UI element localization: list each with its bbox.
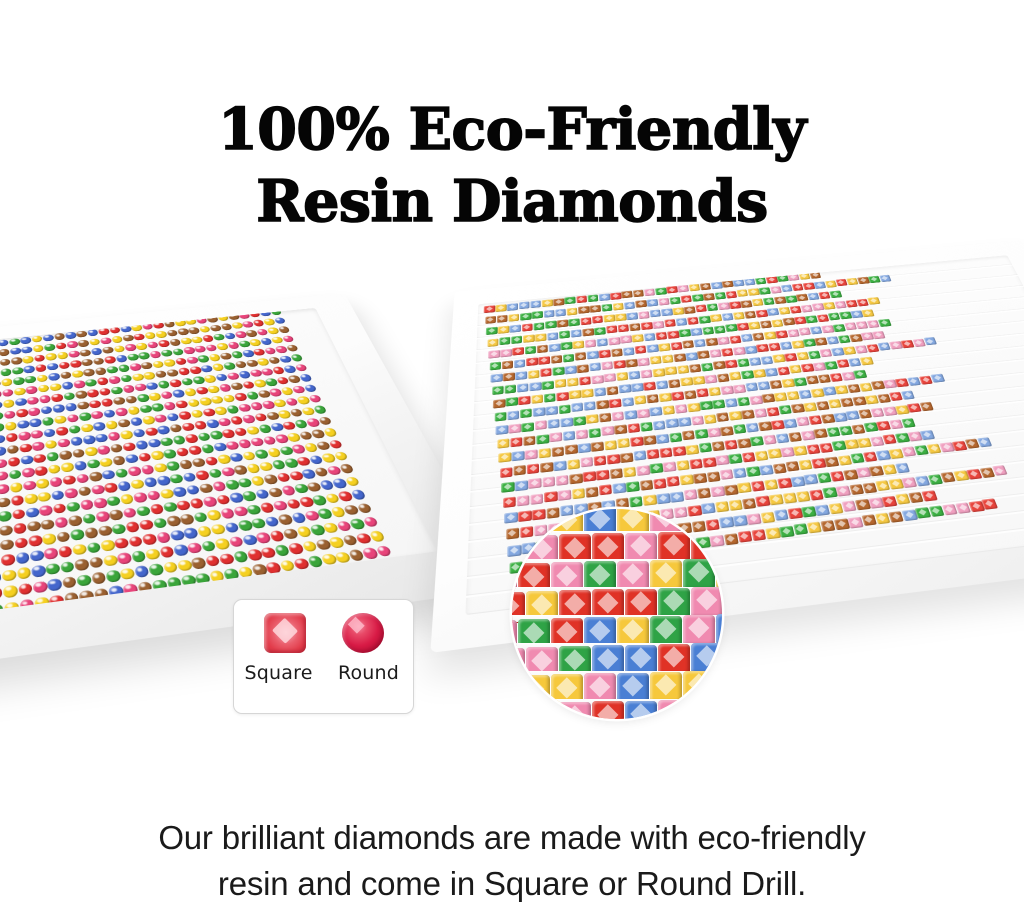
round-drill	[147, 341, 159, 349]
square-drill	[498, 326, 509, 334]
square-drill	[621, 291, 632, 299]
square-drill	[542, 380, 554, 389]
square-drill	[676, 460, 690, 471]
square-drill	[665, 366, 678, 375]
round-drill	[76, 330, 88, 337]
round-drill	[153, 517, 168, 528]
round-drill	[111, 336, 123, 344]
round-drill	[43, 428, 56, 437]
round-drill	[117, 419, 130, 428]
square-drill	[587, 294, 598, 302]
round-drill	[33, 345, 44, 353]
square-drill	[544, 393, 556, 402]
round-drill	[49, 383, 61, 392]
magnified-square-drill	[683, 671, 715, 702]
round-drill	[28, 535, 42, 547]
magnified-square-drill	[658, 700, 690, 719]
round-drill	[195, 572, 211, 585]
square-drill	[510, 437, 522, 447]
square-drill	[533, 322, 544, 330]
square-drill	[535, 420, 547, 430]
square-drill	[751, 529, 766, 541]
round-drill	[43, 334, 54, 342]
square-drill	[488, 350, 500, 359]
round-drill	[66, 501, 80, 512]
legend-gem-row	[234, 613, 413, 653]
square-drill	[823, 302, 836, 310]
square-drill	[601, 426, 614, 436]
square-drill	[556, 391, 568, 400]
round-drill	[188, 327, 200, 334]
square-drill	[878, 319, 891, 327]
round-drill	[156, 531, 171, 543]
square-drill	[593, 455, 606, 466]
round-drill	[56, 531, 70, 543]
square-drill	[741, 370, 754, 379]
magnified-square-drill	[658, 532, 690, 563]
square-drill	[700, 401, 713, 411]
square-drill	[626, 481, 640, 492]
square-drill	[565, 297, 576, 305]
square-drill	[778, 307, 791, 315]
square-drill	[594, 387, 606, 396]
magnified-square-drill	[691, 699, 722, 719]
round-drill	[13, 377, 25, 385]
square-drill	[680, 295, 692, 303]
square-drill	[694, 429, 708, 439]
round-drill	[129, 363, 141, 371]
round-drill	[9, 338, 20, 346]
square-drill	[615, 498, 629, 509]
round-drill	[0, 412, 3, 421]
round-drill	[1, 554, 15, 566]
square-drill	[662, 405, 675, 415]
square-drill	[742, 498, 757, 509]
square-drill	[793, 445, 807, 455]
round-drill	[48, 464, 61, 474]
square-drill	[646, 344, 658, 353]
square-drill	[757, 381, 770, 390]
square-drill	[623, 466, 637, 477]
magnified-square-drill	[658, 588, 690, 619]
round-drill	[172, 348, 184, 356]
round-drill	[68, 350, 80, 358]
round-drill	[318, 416, 333, 425]
square-drill	[682, 430, 696, 440]
square-drill-icon	[264, 613, 306, 653]
round-drill	[14, 387, 26, 396]
square-drill	[721, 313, 733, 321]
round-drill	[255, 532, 271, 544]
round-drill	[158, 340, 170, 348]
square-drill	[737, 438, 751, 448]
square-drill	[697, 488, 711, 499]
square-drill	[720, 426, 734, 436]
round-drill	[11, 495, 24, 506]
round-drill	[89, 338, 101, 346]
round-drill	[210, 396, 224, 405]
round-drill	[105, 570, 120, 583]
square-drill	[565, 445, 578, 455]
square-drill	[512, 451, 525, 462]
round-drill	[117, 481, 131, 492]
square-drill	[901, 418, 916, 428]
square-drill	[680, 377, 693, 386]
round-drill	[133, 333, 145, 341]
square-drill	[729, 335, 742, 343]
round-drill	[38, 384, 50, 393]
square-drill	[629, 323, 641, 331]
round-drill	[46, 452, 59, 462]
square-drill	[596, 470, 609, 481]
square-drill	[666, 286, 678, 294]
square-drill	[502, 497, 515, 508]
round-drill	[103, 409, 116, 418]
round-drill	[128, 535, 143, 547]
square-drill	[706, 471, 720, 482]
square-drill	[695, 305, 707, 313]
round-drill	[135, 440, 149, 450]
square-drill	[517, 383, 529, 392]
square-drill	[723, 533, 738, 545]
round-drill	[2, 569, 16, 582]
square-drill	[639, 479, 653, 490]
round-drill	[180, 574, 196, 587]
square-drill	[733, 424, 747, 434]
round-drill	[120, 494, 134, 505]
round-drill	[154, 414, 167, 423]
square-drill	[673, 353, 686, 362]
square-drill	[765, 527, 780, 539]
round-drill	[62, 475, 76, 485]
square-drill	[567, 459, 580, 470]
square-drill	[661, 308, 673, 316]
square-drill	[608, 337, 620, 346]
square-drill	[829, 290, 842, 298]
round-drill	[25, 507, 39, 518]
round-drill	[0, 358, 11, 366]
magnified-square-drill	[716, 509, 722, 533]
square-drill	[781, 285, 793, 293]
square-drill	[500, 348, 512, 357]
round-drill	[0, 339, 9, 347]
square-drill	[522, 323, 533, 331]
round-drill	[163, 449, 177, 459]
round-drill	[166, 461, 180, 471]
square-drill	[484, 305, 495, 313]
square-drill	[790, 476, 805, 487]
square-drill	[591, 375, 603, 384]
square-drill	[549, 432, 562, 442]
round-drill	[193, 512, 208, 523]
square-drill	[828, 502, 844, 514]
square-drill	[815, 504, 830, 516]
round-drill	[160, 437, 174, 447]
square-drill	[569, 390, 581, 399]
square-drill	[499, 337, 510, 346]
square-drill	[507, 410, 519, 420]
square-drill	[724, 484, 739, 495]
square-drill	[512, 347, 523, 356]
round-drill	[177, 559, 193, 571]
round-drill	[89, 556, 104, 568]
square-drill	[768, 343, 781, 352]
square-drill	[769, 380, 782, 389]
square-drill	[503, 372, 515, 381]
round-drill	[194, 345, 207, 353]
square-drill	[687, 317, 699, 325]
square-drill	[652, 320, 664, 328]
square-drill	[577, 364, 589, 373]
round-drill	[28, 407, 40, 416]
square-drill	[506, 397, 518, 407]
square-drill	[669, 432, 682, 442]
round-drill	[66, 341, 78, 349]
square-drill	[694, 339, 706, 348]
round-drill	[68, 425, 81, 434]
promo-banner: 100% Eco-Friendly Resin Diamonds Square	[0, 0, 1024, 923]
square-drill	[780, 447, 794, 457]
square-drill	[787, 329, 800, 337]
square-drill	[515, 371, 527, 380]
square-drill	[606, 386, 618, 395]
round-drill	[87, 389, 100, 398]
magnified-square-drill	[658, 644, 690, 675]
square-drill	[762, 394, 776, 404]
round-drill	[59, 450, 72, 460]
round-drill	[137, 394, 150, 403]
square-drill	[753, 369, 766, 378]
square-drill	[767, 449, 781, 460]
square-drill	[733, 347, 746, 356]
square-drill	[764, 479, 779, 490]
square-drill	[747, 513, 762, 525]
round-drill	[113, 397, 126, 406]
square-drill	[751, 481, 766, 492]
round-drill	[123, 507, 138, 518]
round-drill	[163, 561, 179, 574]
square-drill	[611, 348, 623, 357]
magnified-square-drill	[650, 672, 682, 703]
round-drill	[100, 337, 112, 345]
round-drill	[163, 320, 175, 327]
round-drill	[277, 514, 293, 525]
square-drill	[655, 332, 667, 340]
round-drill	[22, 356, 34, 364]
square-drill	[576, 296, 587, 304]
square-drill	[624, 410, 637, 420]
round-drill	[191, 458, 205, 468]
round-drill	[87, 329, 99, 336]
square-drill	[540, 462, 553, 473]
square-drill	[486, 327, 497, 335]
round-drill	[200, 444, 214, 454]
round-drill	[163, 401, 176, 410]
round-drill	[57, 438, 70, 448]
square-drill	[724, 439, 738, 449]
square-drill	[826, 427, 840, 437]
square-drill	[715, 455, 729, 466]
square-drill	[573, 416, 586, 426]
round-drill	[115, 468, 129, 478]
round-drill	[229, 453, 244, 463]
round-drill	[16, 409, 28, 418]
square-drill	[596, 400, 609, 410]
round-drill	[113, 345, 125, 353]
square-drill	[981, 499, 998, 510]
square-drill	[693, 473, 707, 484]
square-drill	[558, 490, 571, 501]
round-drill	[195, 470, 210, 480]
square-drill	[540, 368, 552, 377]
square-drill	[583, 471, 596, 482]
drill-rows	[0, 308, 438, 628]
round-drill	[242, 491, 257, 502]
round-drill	[117, 552, 132, 564]
round-drill	[152, 579, 168, 592]
square-drill	[487, 338, 499, 347]
magnified-square-drill	[650, 560, 682, 591]
square-drill	[814, 337, 827, 346]
round-drill	[0, 401, 2, 410]
square-drill	[532, 311, 543, 319]
round-drill	[52, 404, 64, 413]
square-drill	[701, 362, 714, 371]
round-drill	[19, 443, 32, 453]
magnifier-closeup	[512, 509, 722, 719]
square-drill	[712, 400, 725, 410]
round-drill	[125, 454, 139, 464]
round-drill	[54, 333, 65, 341]
round-drill	[0, 434, 5, 444]
square-drill	[796, 491, 811, 502]
round-drill	[187, 542, 203, 554]
square-drill	[653, 420, 666, 430]
round-drill	[89, 471, 103, 481]
round-drill	[26, 386, 38, 395]
square-drill	[714, 292, 726, 300]
round-drill	[233, 551, 249, 563]
square-drill	[749, 357, 762, 366]
round-drill	[153, 463, 167, 473]
round-drill	[140, 464, 154, 474]
round-drill	[149, 351, 161, 359]
round-drill	[344, 476, 360, 487]
round-drill	[225, 441, 239, 451]
square-drill	[666, 476, 680, 487]
round-drill	[147, 438, 161, 448]
round-drill	[118, 364, 130, 372]
round-drill	[65, 332, 76, 339]
round-drill	[106, 496, 120, 507]
round-drill	[11, 357, 22, 365]
square-drill	[624, 301, 636, 309]
round-drill	[55, 342, 67, 350]
round-drill	[46, 563, 61, 576]
square-drill	[559, 331, 571, 339]
square-drill	[684, 306, 696, 314]
round-drill	[163, 359, 176, 367]
square-drill	[607, 454, 620, 465]
round-drill	[0, 423, 4, 432]
headline-line-1: 100% Eco-Friendly	[218, 96, 806, 163]
round-drill	[139, 519, 154, 531]
square-drill	[698, 315, 710, 323]
round-drill	[0, 603, 4, 617]
square-drill	[677, 285, 689, 293]
square-drill	[754, 408, 768, 418]
round-drill	[212, 481, 227, 492]
square-drill	[668, 379, 681, 388]
round-drill	[138, 452, 152, 462]
square-drill	[511, 336, 522, 344]
square-drill	[737, 482, 752, 493]
round-drill	[99, 457, 113, 467]
square-drill	[782, 492, 797, 503]
square-drill	[519, 302, 530, 310]
round-drill	[303, 384, 317, 393]
square-drill	[584, 401, 597, 411]
round-drill	[120, 374, 133, 382]
square-drill	[570, 329, 582, 337]
square-drill	[504, 385, 516, 394]
round-drill	[0, 458, 7, 468]
round-drill	[166, 412, 179, 421]
round-drill	[0, 511, 12, 522]
round-drill	[271, 336, 284, 344]
square-drill	[510, 324, 521, 332]
square-drill	[631, 383, 644, 392]
square-drill	[741, 410, 755, 420]
round-drill	[5, 433, 18, 443]
round-drill	[76, 473, 90, 483]
round-drill	[179, 459, 193, 469]
square-drill	[684, 390, 697, 399]
square-drill	[806, 444, 821, 454]
square-drill	[625, 359, 637, 368]
round-drill	[328, 439, 343, 449]
round-drill	[39, 395, 51, 404]
round-drill	[187, 398, 200, 407]
round-drill	[214, 406, 228, 415]
square-drill	[584, 339, 596, 348]
square-drill	[658, 298, 670, 306]
square-drill	[861, 309, 874, 317]
square-drill	[814, 281, 826, 289]
round-drill	[246, 426, 260, 435]
caption-line-2: resin and come in Square or Round Drill.	[52, 861, 972, 907]
round-drill	[197, 432, 211, 442]
round-drill	[3, 410, 15, 419]
magnified-square-drill	[691, 587, 722, 618]
magnifier-content	[512, 509, 722, 719]
square-drill	[580, 457, 593, 468]
round-drill	[218, 417, 232, 426]
square-drill	[637, 408, 650, 418]
square-drill	[520, 312, 531, 320]
square-drill	[805, 315, 818, 323]
round-drill	[155, 331, 167, 338]
square-drill	[535, 333, 546, 341]
round-drill	[139, 404, 152, 413]
square-drill	[568, 318, 579, 326]
round-drill	[29, 418, 42, 427]
square-drill	[705, 338, 718, 347]
round-drill	[238, 478, 253, 489]
square-drill	[630, 437, 643, 447]
round-drill	[166, 329, 178, 336]
square-drill	[547, 419, 559, 429]
